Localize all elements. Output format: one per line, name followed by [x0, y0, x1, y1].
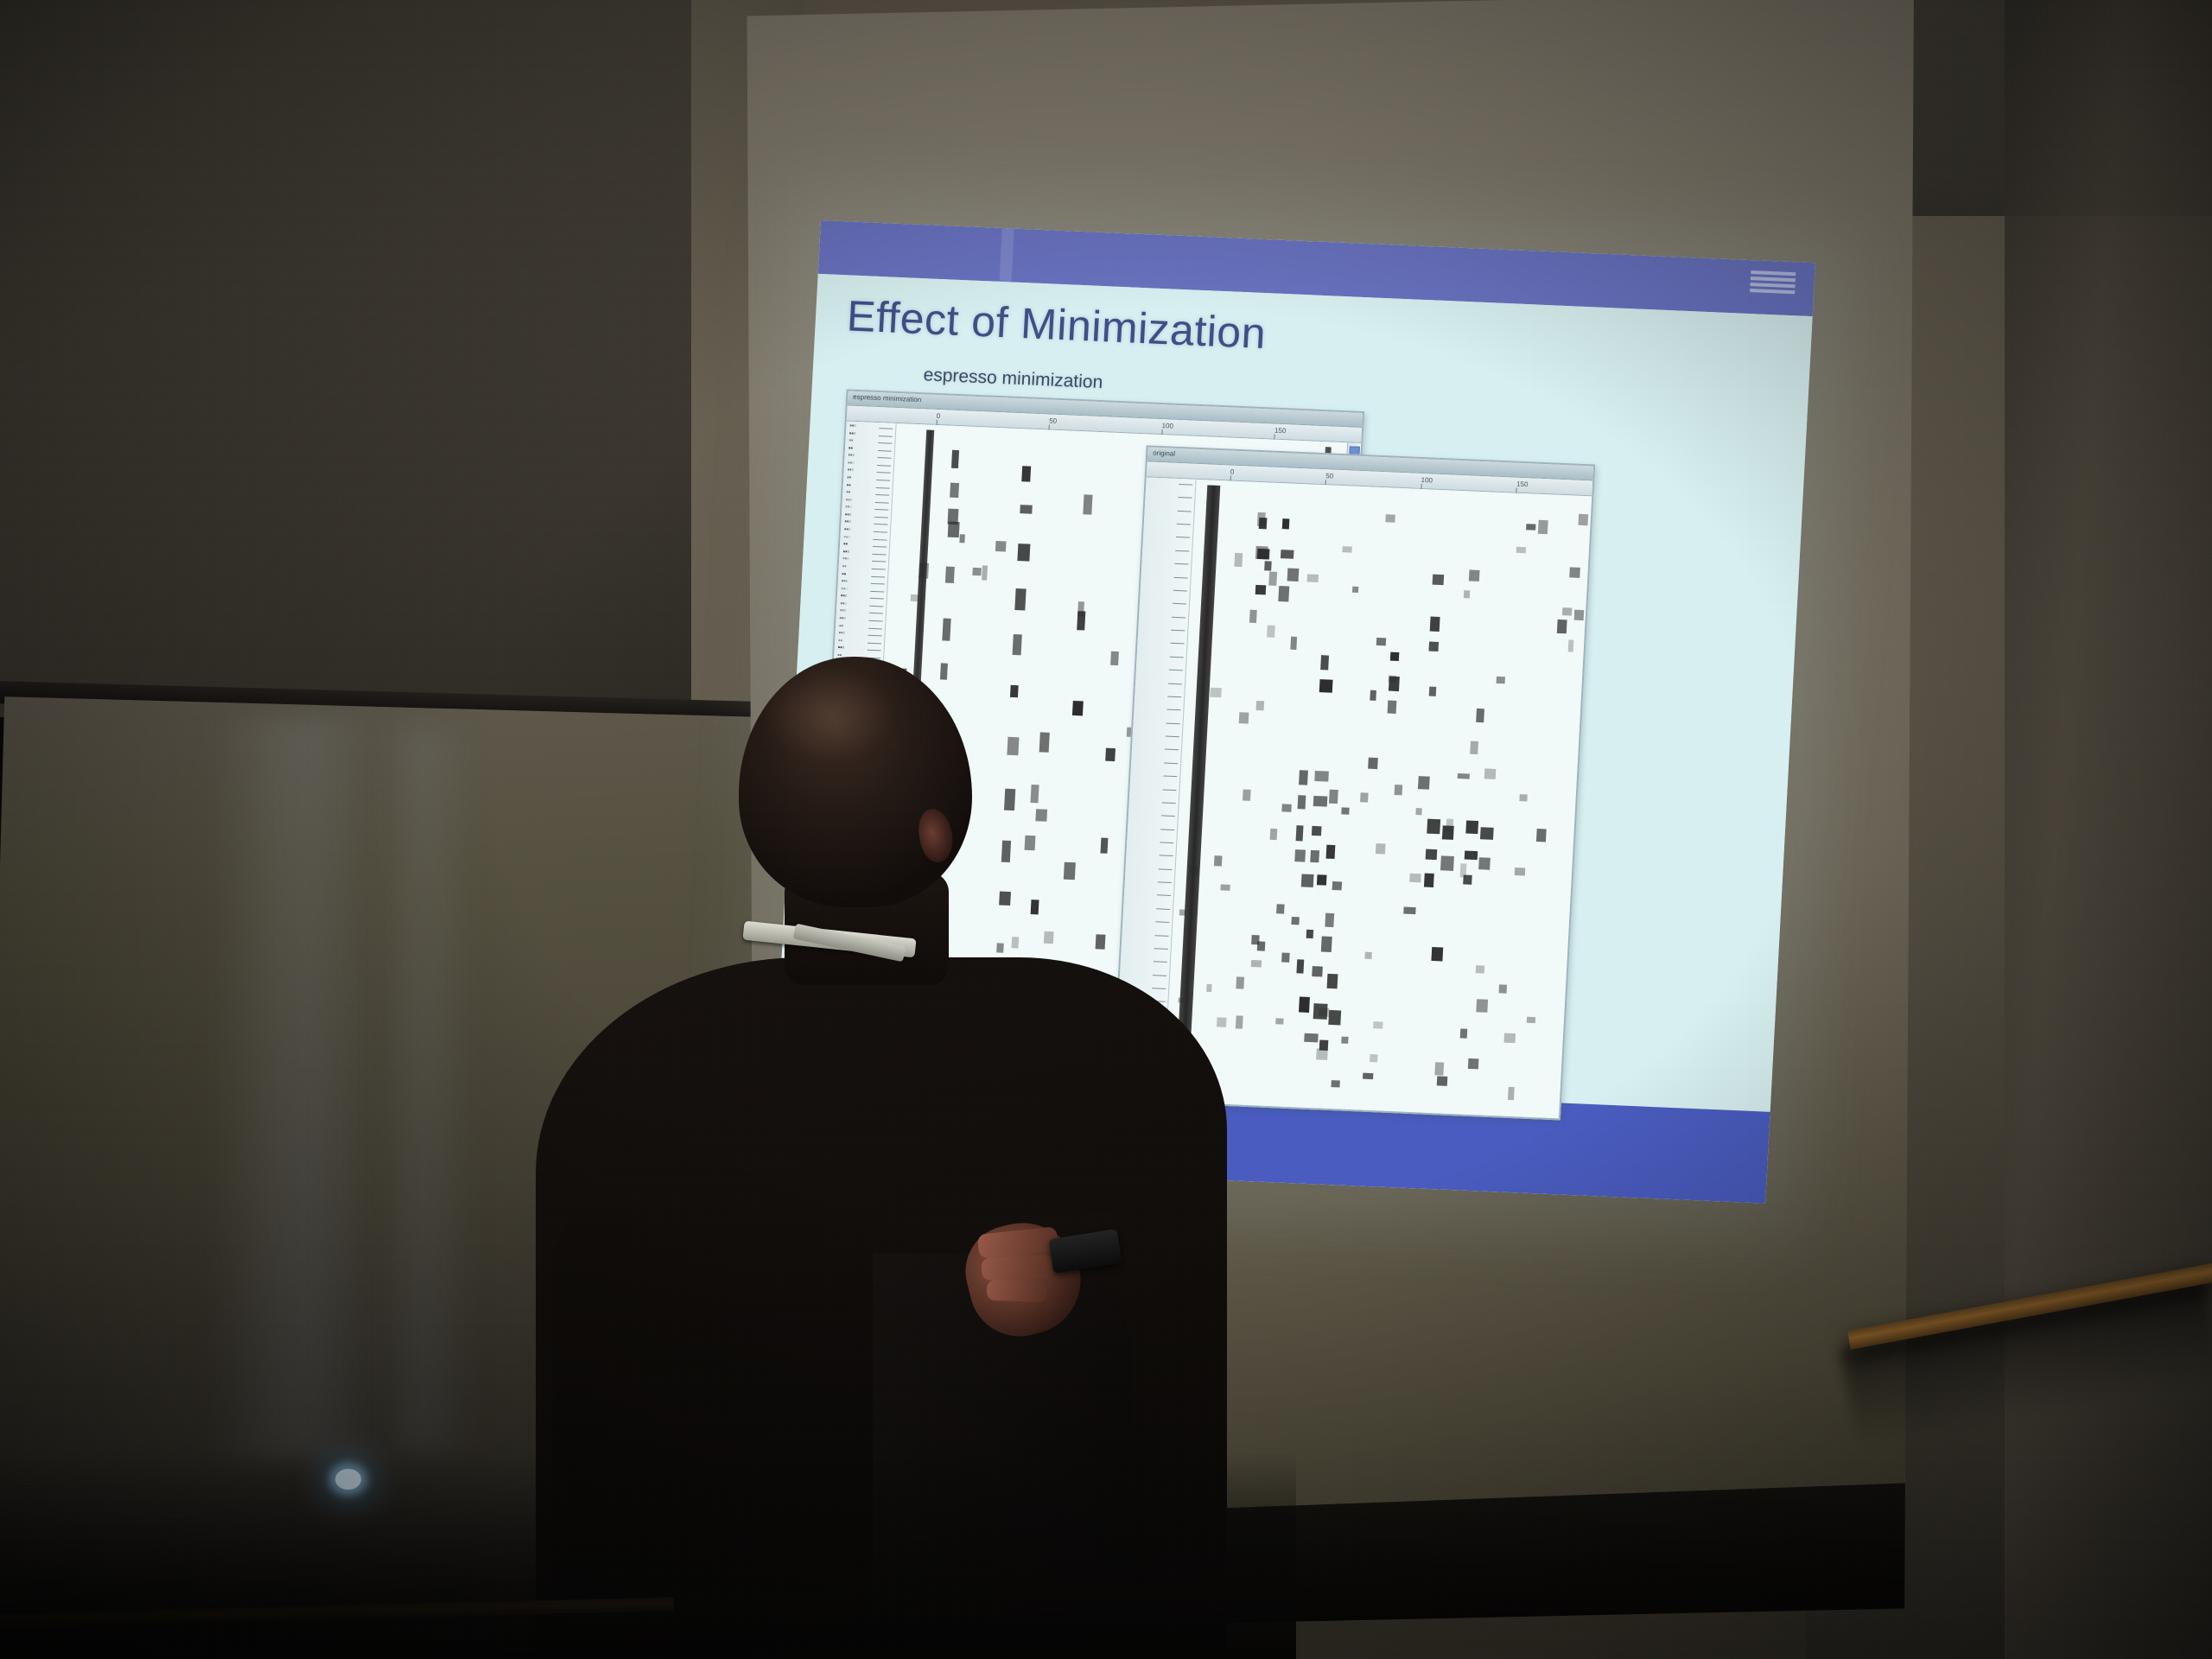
plot-row-tick [868, 650, 881, 652]
plot-data-mark [1429, 641, 1439, 652]
plot-data-mark [1312, 967, 1323, 978]
plot-data-mark [1370, 1054, 1377, 1062]
plot-data-mark [1538, 520, 1548, 534]
plot-data-mark [1320, 937, 1332, 953]
plot-row-tick [877, 472, 891, 474]
plot-row-label: ▪▪▫ [843, 534, 850, 541]
plot-axis-tick-label: 0 [1230, 468, 1235, 476]
plot-data-mark [1287, 568, 1299, 581]
plot-row-tick [868, 620, 882, 622]
plot-data-mark [942, 618, 950, 640]
plot-data-mark [1394, 785, 1402, 796]
plot-data-mark [1298, 795, 1306, 810]
plot-data-mark [945, 566, 955, 582]
plot-row-tick [1178, 511, 1192, 512]
plot-row-label: ▪▪▫ [846, 497, 853, 504]
presenter-head-highlight [765, 667, 894, 762]
plot-data-mark [1476, 965, 1484, 974]
plot-row-label: ▪▪▫ [842, 556, 849, 563]
plot-data-mark [1305, 1033, 1319, 1042]
plot-data-mark [1310, 850, 1319, 862]
plot-data-mark [1527, 1016, 1535, 1023]
plot-row-tick [869, 613, 883, 614]
plot-data-mark [1561, 607, 1572, 616]
plot-row-label: ▪▪ [849, 445, 853, 452]
plot-data-mark [1290, 636, 1297, 650]
plot-data-mark [1573, 610, 1584, 620]
plot-row-tick [1173, 590, 1187, 592]
plot-data-mark [1270, 829, 1278, 840]
plot-data-mark [1281, 518, 1289, 529]
plot-data-mark [1364, 952, 1371, 960]
plot-row-tick [872, 569, 886, 570]
plot-row-label: ▪▪ [842, 563, 847, 570]
plot-data-mark [1470, 741, 1478, 754]
plot-data-mark [1415, 808, 1422, 815]
page-title: Effect of Minimization [846, 290, 1268, 359]
plot-axis-tick-label: 100 [1161, 422, 1173, 430]
plot-row-label: ▪▪▫ [840, 607, 847, 614]
plot-axis-tick-label: 50 [1325, 472, 1333, 480]
plot-data-mark [1424, 874, 1433, 887]
plot-data-mark [1268, 572, 1277, 586]
plot-data-mark [1015, 588, 1027, 610]
plot-row-label: ▪▪▫ [849, 430, 856, 437]
plot-data-mark [948, 509, 959, 525]
plot-row-tick [877, 465, 891, 467]
plot-data-mark [951, 450, 959, 467]
plot-row-label: ▪▪ [842, 571, 846, 578]
plot-row-tick [879, 435, 893, 437]
plot-data-mark [1255, 701, 1263, 710]
plot-data-mark [1409, 874, 1421, 882]
slide-top-bar-notch [1000, 228, 1014, 283]
plot-data-mark [1376, 637, 1386, 645]
plot-data-mark [1567, 640, 1573, 652]
plot-data-mark [960, 534, 965, 543]
plot-data-mark [1520, 794, 1529, 802]
plot-row-tick [875, 494, 889, 496]
plot-axis-tick-label: 0 [937, 412, 941, 420]
plot-data-mark [1557, 620, 1567, 633]
plot-data-mark [1458, 773, 1470, 780]
plot-data-mark [1281, 953, 1290, 963]
plot-row-tick [878, 442, 892, 444]
plot-data-mark [1249, 609, 1257, 623]
plot-data-mark [1341, 1037, 1349, 1044]
plot-row-label: ▪▪ [847, 482, 851, 489]
plot-data-mark [1352, 586, 1358, 593]
plot-row-label: ▪▪ [849, 437, 853, 444]
plot-data-mark [1499, 984, 1507, 994]
plot-data-mark [1255, 546, 1268, 559]
plot-row-label: ▪▪▫ [844, 526, 851, 533]
plot-row-tick [868, 635, 881, 637]
plot-data-mark [1389, 675, 1396, 682]
plot-data-mark [1480, 827, 1494, 840]
plot-data-mark [1418, 776, 1429, 789]
plot-data-mark [1508, 1086, 1514, 1100]
plot-row-tick [873, 554, 887, 556]
plot-data-mark [1299, 770, 1308, 785]
plot-data-mark [1432, 947, 1443, 961]
plot-data-mark [1275, 1018, 1284, 1025]
plot-data-mark [1370, 690, 1376, 700]
plot-axis-tick-label: 50 [1049, 417, 1057, 425]
plot-data-mark [1257, 512, 1265, 526]
plot-data-mark [1478, 857, 1491, 869]
ibm-logo-icon [1750, 270, 1796, 294]
floor-shadow [0, 1452, 1296, 1659]
plot-data-mark [1018, 543, 1031, 561]
plot-window-title: original [1153, 449, 1175, 458]
plot-row-tick [874, 524, 887, 525]
presenter-finger [987, 1280, 1048, 1302]
plot-window-title: espresso minimization [853, 393, 922, 404]
plot-row-tick [869, 606, 883, 607]
plot-row-label: ▪▪▫ [847, 467, 854, 474]
plot-data-mark [1569, 567, 1580, 578]
indicator-led [335, 1469, 361, 1490]
plot-row-tick [1170, 643, 1184, 645]
plot-data-mark [1299, 996, 1310, 1013]
plot-data-mark [1460, 863, 1467, 877]
plot-data-mark [1306, 930, 1314, 938]
plot-data-mark [1385, 514, 1395, 523]
plot-data-mark [1433, 575, 1445, 586]
plot-row-tick [878, 450, 892, 452]
presenter-finger [981, 1255, 1054, 1281]
plot-data-mark [1516, 546, 1526, 553]
plot-data-mark [1374, 1021, 1383, 1028]
wall-light-sheen-secondary [372, 726, 475, 1452]
plot-data-mark [1264, 561, 1272, 571]
plot-data-mark [972, 568, 981, 575]
plot-data-mark [1430, 617, 1440, 632]
plot-data-mark [1317, 875, 1327, 886]
plot-data-mark [1077, 601, 1084, 616]
plot-data-mark [1329, 790, 1338, 804]
plot-data-mark [1312, 826, 1322, 836]
plot-axis-tick-label: 100 [1421, 476, 1433, 485]
plot-row-label: ▪▪▫ [842, 578, 849, 585]
plot-row-tick [871, 583, 885, 585]
conference-room-scene: Effect of Minimization espresso minimiza… [0, 0, 2212, 1659]
plot-data-mark [1403, 906, 1415, 913]
plot-data-mark [1281, 550, 1294, 559]
plot-data-mark [1267, 626, 1275, 638]
plot-data-mark [911, 594, 918, 601]
plot-data-mark [1342, 546, 1351, 552]
plot-row-tick [879, 428, 893, 429]
plot-data-mark [1427, 818, 1440, 834]
plot-row-label: ▪▪▫ [838, 630, 845, 637]
plot-data-mark [1503, 1033, 1516, 1042]
plot-row-tick [877, 457, 891, 459]
plot-row-tick [868, 642, 881, 644]
plot-data-mark [1250, 960, 1262, 967]
plot-row-label: ▪▪▫ [845, 512, 852, 518]
plot-data-mark [1578, 514, 1588, 525]
plot-data-mark [1435, 1063, 1444, 1076]
plot-data-mark [1319, 679, 1333, 692]
plot-data-mark [1375, 843, 1385, 855]
plot-row-tick [870, 590, 884, 592]
plot-data-mark [1295, 849, 1306, 861]
plot-data-mark [1251, 935, 1259, 945]
plot-data-mark [1464, 851, 1478, 860]
plot-data-mark [1368, 758, 1377, 770]
plot-data-mark [1083, 494, 1092, 514]
plot-data-mark [1326, 973, 1338, 988]
plot-data-mark [1496, 677, 1504, 683]
plot-row-label: ▪▪▫ [848, 453, 855, 460]
plot-data-mark [1296, 960, 1304, 974]
plot-data-mark [1316, 1048, 1328, 1060]
plot-data-mark [1360, 793, 1368, 803]
plot-data-mark [1459, 1028, 1466, 1038]
wall-light-sheen [207, 717, 380, 1460]
plot-data-mark [1234, 553, 1243, 567]
plot-row-label: ▪▪ [846, 489, 850, 496]
plot-data-mark [1320, 655, 1329, 670]
plot-data-mark [1281, 804, 1292, 812]
plot-data-mark [950, 482, 959, 498]
plot-row-label: ▪▪▫ [842, 549, 849, 556]
plot-data-mark [1255, 585, 1266, 595]
plot-data-mark [1465, 820, 1479, 834]
wall-upper-left [0, 0, 717, 717]
plot-row-tick [1173, 603, 1186, 605]
plot-row-tick [874, 531, 887, 533]
plot-data-mark [918, 563, 929, 579]
plot-data-mark [1022, 467, 1031, 482]
plot-row-label: ▪▪▫ [839, 615, 846, 622]
plot-row-tick [1174, 563, 1188, 565]
plot-row-tick [870, 598, 884, 600]
plot-row-tick [1171, 630, 1185, 632]
plot-data-mark [1476, 709, 1484, 722]
plot-row-tick [876, 480, 890, 481]
plot-data-mark [1440, 855, 1454, 870]
plot-data-mark [1278, 586, 1290, 601]
plot-row-tick [1172, 616, 1185, 618]
plot-row-tick [876, 487, 890, 489]
plot-data-mark [1313, 795, 1328, 807]
plot-row-label: ▪▪▫ [837, 645, 844, 652]
plot-data-mark [995, 541, 1007, 551]
plot-data-mark [1277, 904, 1285, 913]
plot-data-mark [1390, 652, 1400, 661]
plot-data-mark [1319, 1008, 1329, 1017]
plot-data-mark [1314, 771, 1329, 782]
plot-row-tick [1179, 484, 1192, 486]
plot-data-mark [1332, 1080, 1340, 1087]
plot-data-mark [1342, 807, 1350, 815]
plot-data-mark [1437, 1076, 1448, 1086]
plot-data-mark [1325, 845, 1335, 859]
plot-row-label: ▪▪▫ [841, 586, 848, 593]
plot-data-mark [1468, 1058, 1478, 1069]
plot-row-tick [871, 575, 885, 577]
plot-row-label: ▪▪ [843, 541, 848, 548]
plot-caption-espresso: espresso minimization [923, 365, 1103, 393]
plot-data-mark [1526, 524, 1535, 530]
plot-axis-tick-label: 150 [1274, 427, 1287, 435]
plot-row-label: ▪▪ [838, 638, 842, 645]
plot-row-label: ▪▪ [847, 474, 851, 481]
plot-data-mark [1426, 849, 1437, 860]
plot-row-tick [873, 546, 887, 548]
plot-data-mark [1332, 881, 1342, 890]
plot-data-mark [1296, 825, 1304, 842]
plot-data-mark [982, 565, 988, 581]
plot-data-mark [1536, 829, 1547, 842]
plot-row-tick [1174, 576, 1188, 578]
plot-row-tick [875, 502, 889, 504]
plot-row-tick [1178, 497, 1192, 499]
plot-data-mark [1446, 819, 1453, 831]
plot-row-label: ▪▪▫ [844, 519, 851, 526]
plot-row-tick [874, 509, 888, 511]
plot-data-mark [1325, 913, 1334, 927]
plot-row-label: ▪▪▫ [848, 460, 855, 467]
plot-row-label: ▪▪▫ [841, 593, 848, 600]
plot-data-mark [1020, 505, 1033, 514]
plot-row-label: ▪▪▫ [845, 504, 852, 511]
plot-row-tick [1176, 537, 1190, 538]
plot-row-tick [874, 517, 888, 518]
plot-data-mark [1013, 634, 1022, 656]
plot-data-mark [1476, 1000, 1488, 1013]
plot-data-mark [1468, 569, 1479, 582]
plot-data-mark [1387, 701, 1395, 714]
plot-axis-tick-label: 150 [1516, 480, 1529, 489]
plot-row-tick [1175, 550, 1189, 552]
plot-row-tick [1177, 524, 1191, 525]
plot-data-mark [1328, 1010, 1341, 1025]
plot-data-mark [1363, 1073, 1373, 1080]
plot-row-label: ▪▪▫ [849, 423, 856, 429]
plot-data-mark [1515, 868, 1525, 875]
plot-data-mark [1428, 686, 1436, 696]
plot-data-mark [1463, 590, 1470, 598]
plot-row-tick [872, 561, 886, 563]
plot-data-mark [1301, 874, 1314, 887]
plot-data-mark [1306, 574, 1319, 582]
plot-row-label: ▪▪▫ [840, 601, 847, 607]
plot-row-tick [868, 627, 882, 629]
plot-row-label: ▪▪ [839, 623, 843, 630]
plot-data-mark [1292, 917, 1300, 925]
plot-data-mark [1484, 768, 1497, 779]
plot-row-tick [873, 539, 887, 541]
